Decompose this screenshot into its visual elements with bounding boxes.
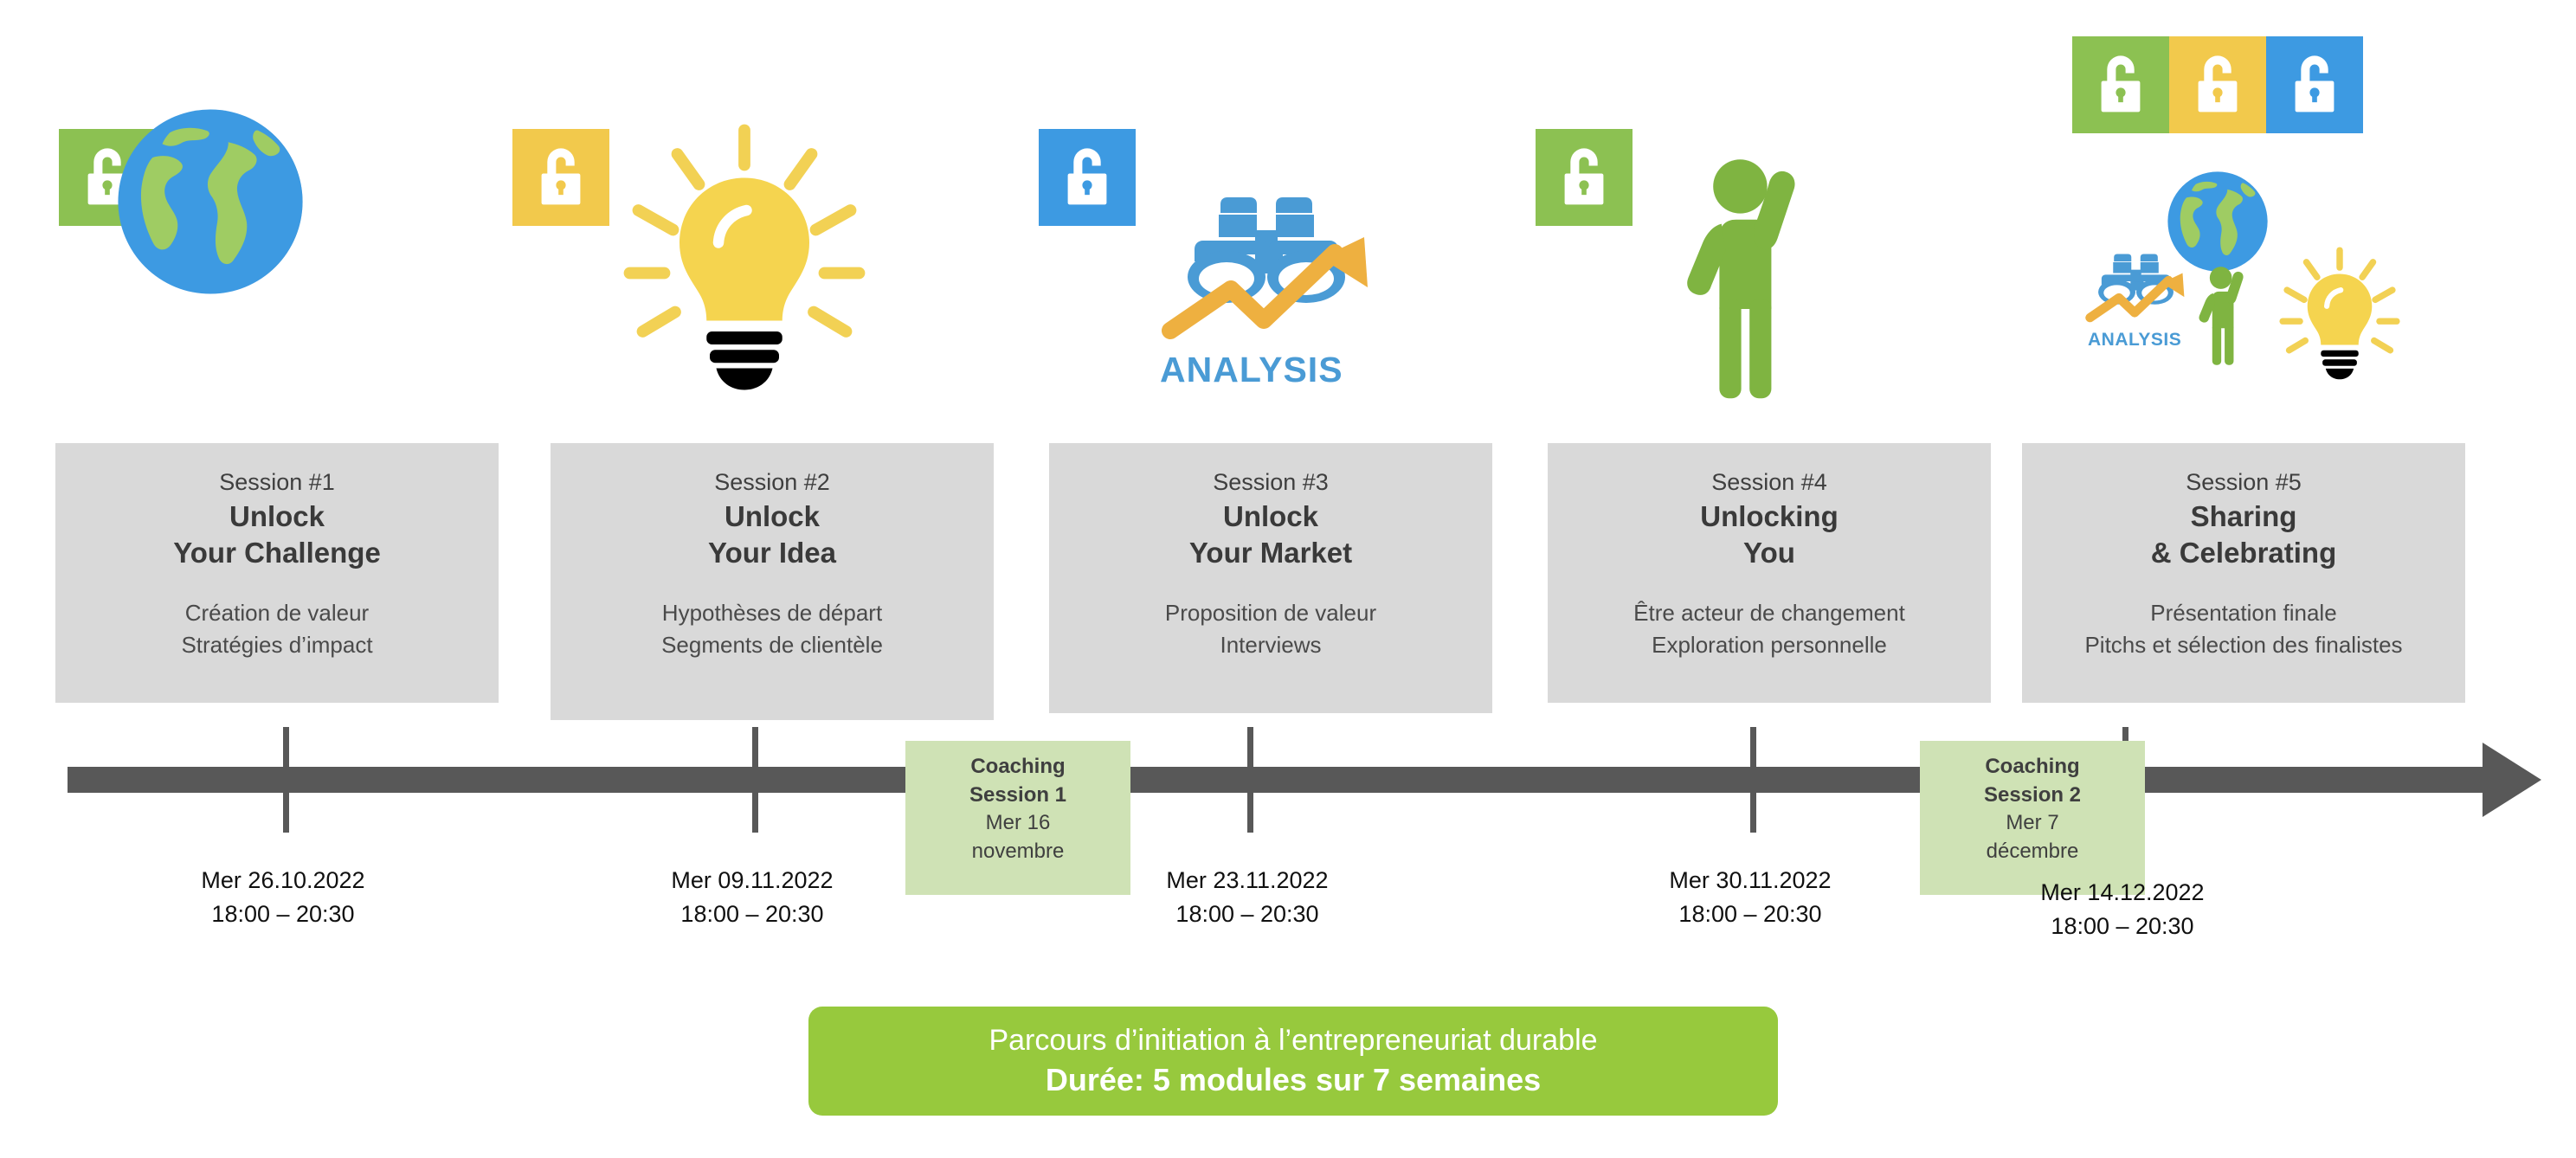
binoculars-analysis-icon bbox=[1151, 192, 1383, 357]
session-subtitle-1: Hypothèses de départ bbox=[661, 597, 883, 629]
analysis-label-small: ANALYSIS bbox=[2088, 330, 2181, 351]
time-value: 18:00 – 20:30 bbox=[596, 897, 908, 931]
footer-banner: Parcours d’initiation à l’entrepreneuria… bbox=[808, 1007, 1778, 1116]
session-card-3[interactable]: Session #3 Unlock Your Market Propositio… bbox=[1049, 443, 1492, 713]
timeline-tick-2 bbox=[752, 727, 758, 833]
date-value: Mer 26.10.2022 bbox=[127, 864, 439, 897]
session-subtitle-2: Stratégies d’impact bbox=[181, 629, 372, 661]
session-title-line2: & Celebrating bbox=[2151, 535, 2337, 571]
session-number: Session #3 bbox=[1213, 467, 1329, 499]
session-card-4[interactable]: Session #4 Unlocking You Être acteur de … bbox=[1548, 443, 1991, 703]
time-value: 18:00 – 20:30 bbox=[127, 897, 439, 931]
coaching-line-2: Session 1 bbox=[969, 782, 1066, 810]
time-value: 18:00 – 20:30 bbox=[1092, 897, 1403, 931]
session-title-line1: Unlocking bbox=[1700, 499, 1839, 535]
session-card-2[interactable]: Session #2 Unlock Your Idea Hypothèses d… bbox=[551, 443, 994, 720]
coaching-line-3: Mer 7 bbox=[2006, 809, 2058, 838]
session-number: Session #1 bbox=[219, 467, 335, 499]
banner-line-2: Durée: 5 modules sur 7 semaines bbox=[1046, 1059, 1541, 1101]
coaching-line-2: Session 2 bbox=[1984, 782, 2081, 810]
time-value: 18:00 – 20:30 bbox=[1594, 897, 1906, 931]
globe-icon bbox=[114, 106, 306, 298]
session-card-1[interactable]: Session #1 Unlock Your Challenge Créatio… bbox=[55, 443, 499, 703]
session-subtitle-1: Proposition de valeur bbox=[1165, 597, 1376, 629]
timeline-tick-4 bbox=[1750, 727, 1756, 833]
binoculars-analysis-icon-small bbox=[2081, 251, 2192, 331]
session-title-line2: You bbox=[1743, 535, 1795, 571]
coaching-line-1: Coaching bbox=[970, 753, 1065, 782]
unlock-icon-session-4 bbox=[1536, 129, 1633, 226]
unlock-icon-session-2 bbox=[512, 129, 609, 226]
analysis-label: ANALYSIS bbox=[1160, 350, 1343, 390]
session-title-line1: Sharing bbox=[2191, 499, 2297, 535]
banner-line-1: Parcours d’initiation à l’entrepreneuria… bbox=[989, 1021, 1597, 1059]
person-raising-hand-icon bbox=[1686, 143, 1842, 402]
unlock-icon-session-5-green bbox=[2072, 36, 2169, 133]
date-value: Mer 23.11.2022 bbox=[1092, 864, 1403, 897]
date-label-1: Mer 26.10.2022 18:00 – 20:30 bbox=[127, 864, 439, 931]
session-number: Session #5 bbox=[2186, 467, 2302, 499]
date-label-4: Mer 30.11.2022 18:00 – 20:30 bbox=[1594, 864, 1906, 931]
session-title-line2: Your Idea bbox=[708, 535, 836, 571]
session-card-5[interactable]: Session #5 Sharing & Celebrating Présent… bbox=[2022, 443, 2465, 703]
session-title-line2: Your Market bbox=[1189, 535, 1352, 571]
timeline-tick-1 bbox=[283, 727, 289, 833]
session-subtitle-1: Création de valeur bbox=[181, 597, 372, 629]
lightbulb-icon-small bbox=[2275, 241, 2405, 383]
date-label-5: Mer 14.12.2022 18:00 – 20:30 bbox=[1967, 876, 2278, 943]
person-raising-hand-icon-small bbox=[2199, 260, 2263, 367]
coaching-line-4: décembre bbox=[1987, 838, 2079, 866]
date-label-3: Mer 23.11.2022 18:00 – 20:30 bbox=[1092, 864, 1403, 931]
time-value: 18:00 – 20:30 bbox=[1967, 910, 2278, 943]
timeline-tick-3 bbox=[1247, 727, 1253, 833]
date-label-2: Mer 09.11.2022 18:00 – 20:30 bbox=[596, 864, 908, 931]
lightbulb-icon bbox=[615, 111, 874, 396]
coaching-line-4: novembre bbox=[972, 838, 1065, 866]
coaching-line-3: Mer 16 bbox=[986, 809, 1051, 838]
session-subtitle-2: Exploration personnelle bbox=[1633, 629, 1905, 661]
date-value: Mer 09.11.2022 bbox=[596, 864, 908, 897]
session-title-line2: Your Challenge bbox=[173, 535, 381, 571]
session-title-line1: Unlock bbox=[1223, 499, 1318, 535]
session-title-line1: Unlock bbox=[724, 499, 820, 535]
session-subtitle-2: Segments de clientèle bbox=[661, 629, 883, 661]
session-subtitle-1: Présentation finale bbox=[2084, 597, 2402, 629]
session-subtitle-1: Être acteur de changement bbox=[1633, 597, 1905, 629]
session-subtitle-2: Interviews bbox=[1165, 629, 1376, 661]
timeline-infographic: Session #1 Unlock Your Challenge Créatio… bbox=[0, 0, 2576, 1158]
timeline-arrowhead-icon bbox=[2483, 743, 2541, 817]
session-subtitle-2: Pitchs et sélection des finalistes bbox=[2084, 629, 2402, 661]
unlock-icon-session-5-yellow bbox=[2169, 36, 2266, 133]
session-title-line1: Unlock bbox=[229, 499, 325, 535]
unlock-icon-session-3 bbox=[1039, 129, 1136, 226]
unlock-icon-session-5-blue bbox=[2266, 36, 2363, 133]
session-number: Session #4 bbox=[1711, 467, 1827, 499]
coaching-box-2[interactable]: Coaching Session 2 Mer 7 décembre bbox=[1920, 741, 2145, 895]
coaching-line-1: Coaching bbox=[1985, 753, 2079, 782]
date-value: Mer 14.12.2022 bbox=[1967, 876, 2278, 910]
date-value: Mer 30.11.2022 bbox=[1594, 864, 1906, 897]
session-number: Session #2 bbox=[714, 467, 830, 499]
